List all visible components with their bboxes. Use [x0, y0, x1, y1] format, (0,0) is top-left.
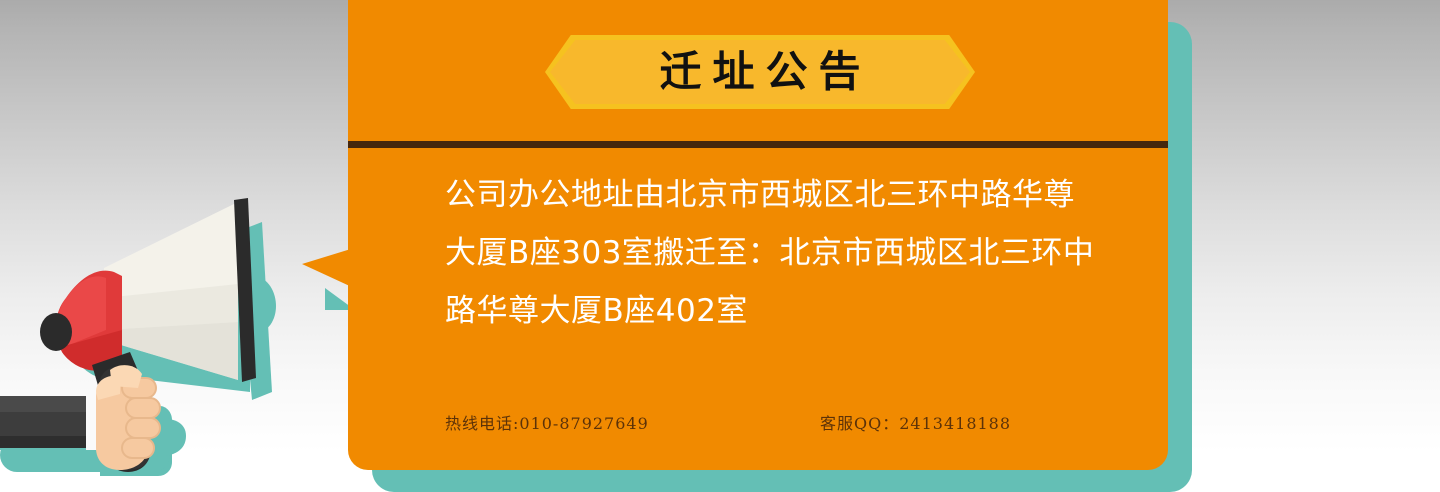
footer-contacts: 热线电话:010-87927649 客服QQ：2413418188 — [445, 410, 1105, 434]
announcement-card: 迁址公告 公司办公地址由北京市西城区北三环中路华尊大厦B座303室搬迁至：北京市… — [348, 0, 1168, 470]
page-title: 迁址公告 — [545, 35, 975, 109]
speech-tail — [302, 248, 354, 288]
announcement-banner: 迁址公告 公司办公地址由北京市西城区北三环中路华尊大厦B座303室搬迁至：北京市… — [0, 0, 1440, 492]
hotline-phone: 热线电话:010-87927649 — [445, 410, 820, 434]
customer-service-qq: 客服QQ：2413418188 — [820, 410, 1105, 434]
announcement-body: 公司办公地址由北京市西城区北三环中路华尊大厦B座303室搬迁至：北京市西城区北三… — [445, 166, 1105, 340]
megaphone-hand-icon — [0, 180, 360, 492]
title-divider — [348, 141, 1168, 148]
title-ribbon: 迁址公告 — [545, 35, 975, 109]
